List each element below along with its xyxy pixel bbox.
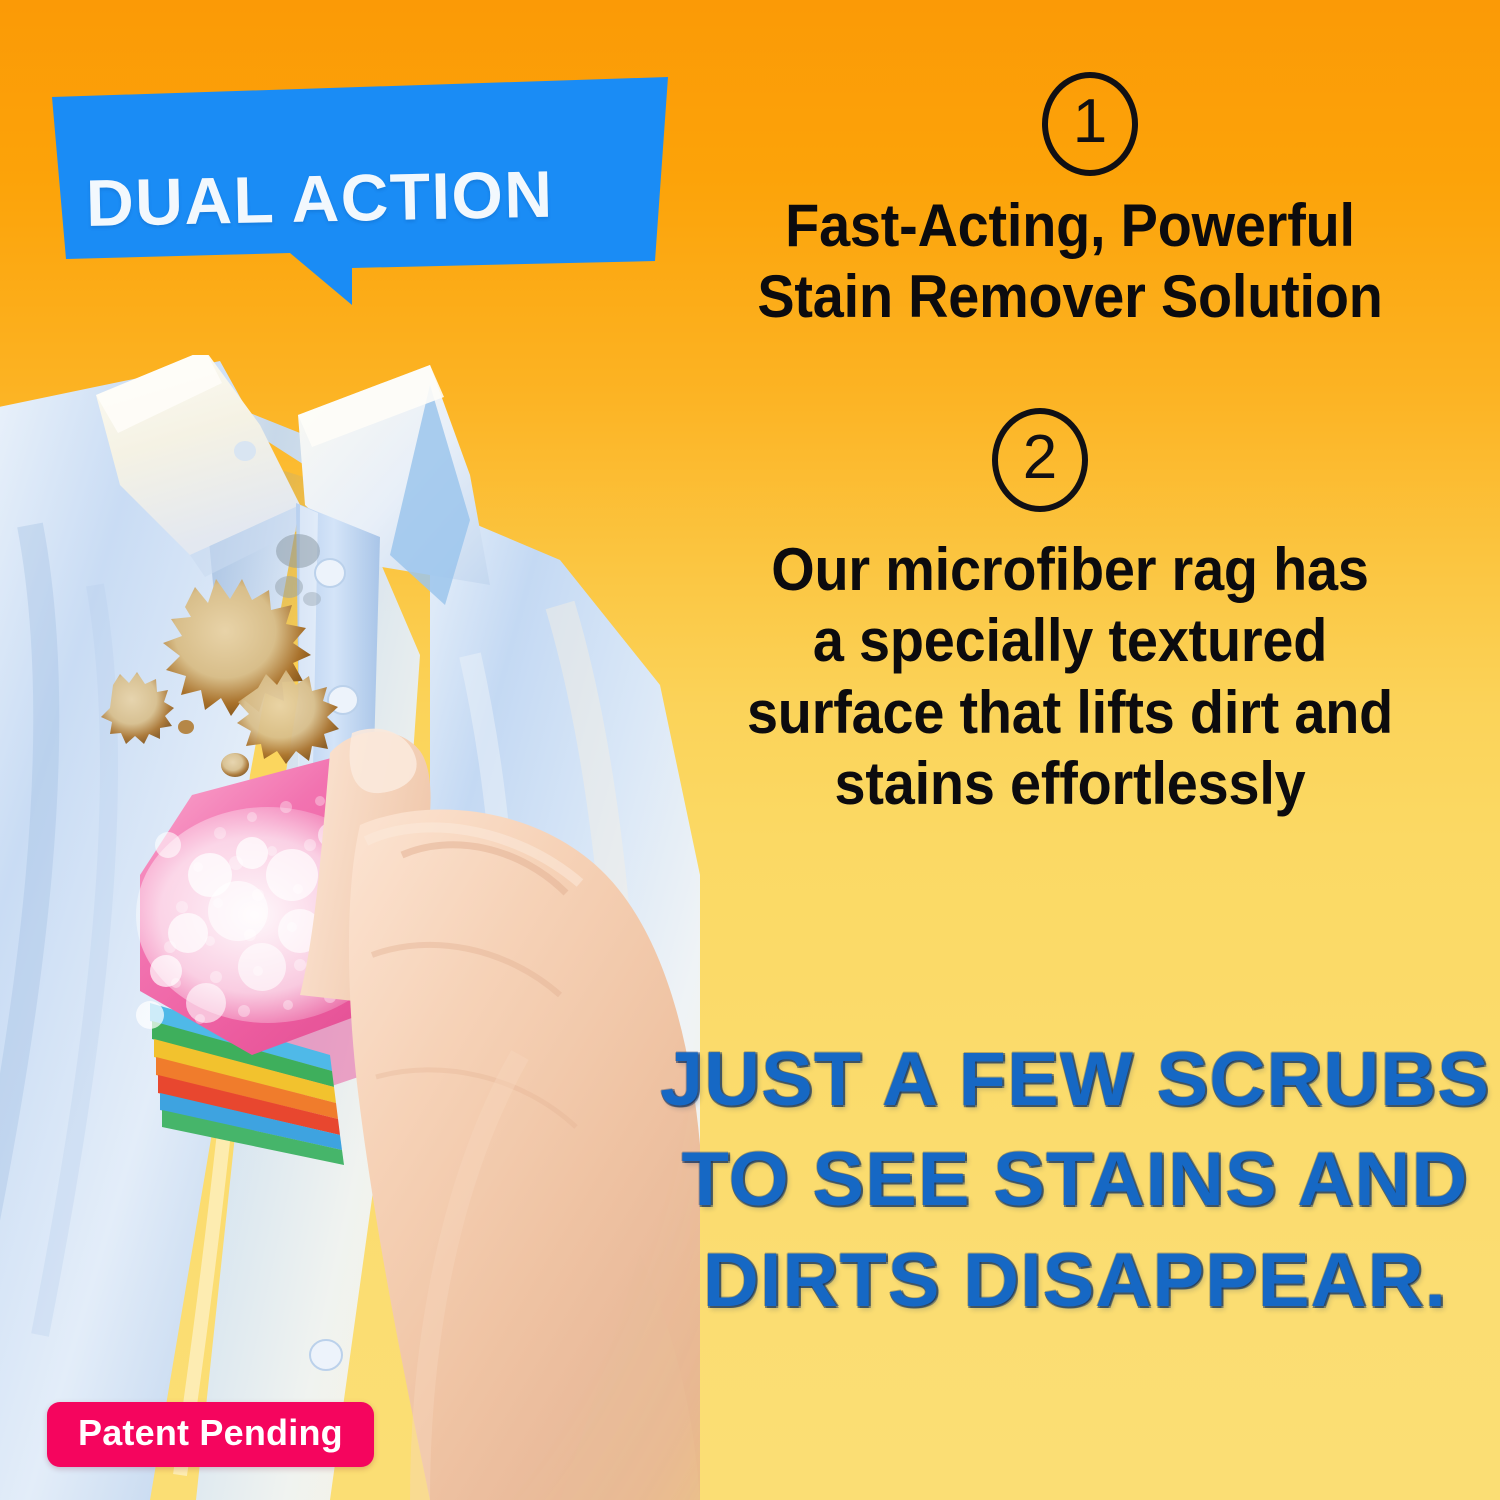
infographic-canvas: DUAL ACTION 1 Fast-Acting, Powerful Stai… [0, 0, 1500, 1500]
step-2-line-4: stains effortlessly [670, 748, 1470, 819]
step-1-line-1: Fast-Acting, Powerful [670, 190, 1470, 261]
headline-line-3: DIRTS DISAPPEAR. [652, 1231, 1499, 1331]
step-2-line-1: Our microfiber rag has [670, 534, 1470, 605]
headline-line-2: TO SEE STAINS AND [652, 1130, 1499, 1230]
step-1-line-2: Stain Remover Solution [670, 261, 1470, 332]
step-1: 1 Fast-Acting, Powerful Stain Remover So… [640, 72, 1500, 333]
step-2-line-3: surface that lifts dirt and [670, 677, 1470, 748]
dual-action-banner: DUAL ACTION [0, 55, 700, 345]
headline-line-1: JUST A FEW SCRUBS [652, 1030, 1499, 1130]
step-2: 2 Our microfiber rag has a specially tex… [640, 408, 1500, 820]
step-1-number: 1 [1042, 72, 1138, 176]
step-2-number: 2 [992, 408, 1088, 512]
step-2-text: Our microfiber rag has a specially textu… [640, 534, 1500, 820]
patent-pending-badge: Patent Pending [47, 1402, 374, 1467]
step-2-line-2: a specially textured [670, 605, 1470, 676]
banner-label: DUAL ACTION [85, 154, 646, 241]
patent-pending-label: Patent Pending [78, 1415, 343, 1451]
product-photo [0, 355, 700, 1500]
step-1-text: Fast-Acting, Powerful Stain Remover Solu… [640, 190, 1500, 333]
headline-block: JUST A FEW SCRUBS TO SEE STAINS AND DIRT… [660, 1030, 1490, 1331]
